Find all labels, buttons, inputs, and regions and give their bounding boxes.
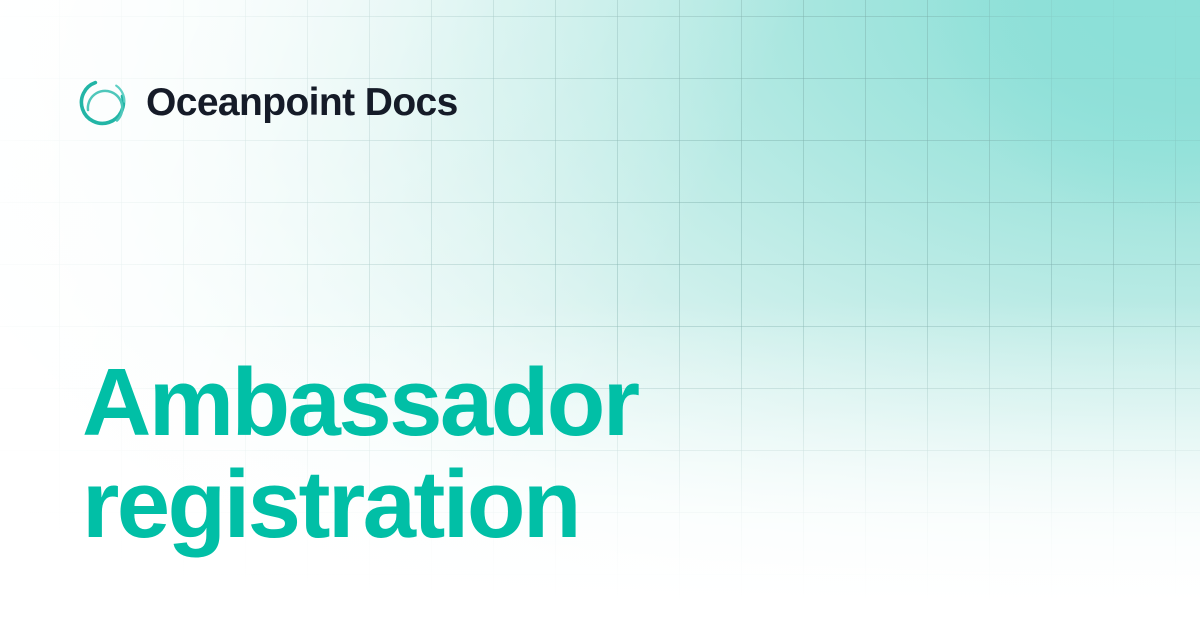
- page-title-line-2: registration: [82, 454, 842, 556]
- oceanpoint-spiral-ring-icon: [78, 76, 130, 128]
- social-card: Oceanpoint Docs Ambassador registration: [0, 0, 1200, 630]
- brand-lockup: Oceanpoint Docs: [78, 76, 458, 128]
- brand-name: Oceanpoint Docs: [146, 83, 458, 122]
- page-title-line-1: Ambassador: [82, 352, 842, 454]
- card-content: Oceanpoint Docs Ambassador registration: [0, 0, 1200, 630]
- page-title: Ambassador registration: [82, 352, 842, 556]
